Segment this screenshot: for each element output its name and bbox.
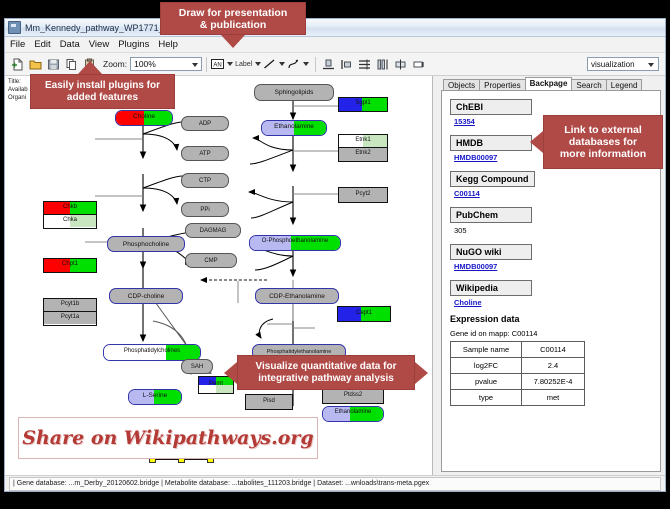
db-title-kegg: Kegg Compound xyxy=(450,171,535,187)
node-cmp[interactable]: CMP xyxy=(185,253,237,268)
visualization-combobox[interactable]: visualization xyxy=(587,57,659,71)
common-width-icon[interactable] xyxy=(374,56,391,73)
menu-item-plugins[interactable]: Plugins xyxy=(118,39,149,50)
callout-plugins-line2: added features xyxy=(67,92,138,104)
callout-draw-arrow-icon xyxy=(221,35,245,48)
table-row: log2FC 2.4 xyxy=(451,358,585,374)
gene-label: Chkb xyxy=(44,204,96,210)
chevron-down-icon xyxy=(303,62,309,66)
gene-label: Pcyt1b xyxy=(44,301,96,307)
gene-group-chk[interactable]: Chkb Chka xyxy=(43,201,97,229)
db-link-nugo[interactable]: HMDB00097 xyxy=(454,262,652,271)
callout-plugins-arrow-icon xyxy=(78,61,102,74)
gene-id-line: Gene id on mapp: C00114 xyxy=(450,329,652,338)
node-label: ADP xyxy=(199,121,211,127)
db-title-pubchem: PubChem xyxy=(450,207,532,223)
status-bar: | Gene database: ...m_Derby_20120602.bri… xyxy=(5,475,665,491)
callout-draw-line1: Draw for presentation xyxy=(179,7,288,19)
callout-plugins: Easily install plugins for added feature… xyxy=(30,74,175,109)
title-bar: Mm_Kennedy_pathway_WP1771_45176.gpml xyxy=(5,19,665,37)
callout-plugins-line1: Easily install plugins for xyxy=(45,80,160,92)
callout-visualize-arrow-icon xyxy=(224,362,237,384)
cell-key: log2FC xyxy=(451,358,522,374)
toolbar-separator xyxy=(206,57,207,72)
table-row: pvalue 7.80252E-4 xyxy=(451,374,585,390)
db-block-pubchem: PubChem 305 xyxy=(450,205,652,235)
cell-value: 2.4 xyxy=(522,358,585,374)
cell-key: type xyxy=(451,390,522,406)
new-file-icon[interactable] xyxy=(9,56,26,73)
gene-label: Pcyt1a xyxy=(44,314,96,320)
node-label: CDP-Ethanolamine xyxy=(269,293,325,300)
side-panel-tabs: Objects Properties Backpage Search Legen… xyxy=(433,76,665,90)
gene-pcyt2[interactable]: Pcyt2 xyxy=(338,187,388,203)
menu-item-data[interactable]: Data xyxy=(60,39,80,50)
gene-group-pcyt1[interactable]: Pcyt1b Pcyt1a xyxy=(43,298,97,326)
cell-value: met xyxy=(522,390,585,406)
node-ethanolamine-top[interactable]: Ethanolamine xyxy=(261,120,327,136)
callout-draw: Draw for presentation & publication xyxy=(160,2,306,35)
datanode-tool[interactable]: AN xyxy=(211,58,233,70)
node-label: PPi xyxy=(200,207,209,213)
interaction-tool[interactable] xyxy=(287,58,309,70)
db-block-nugo: NuGO wiki HMDB00097 xyxy=(450,242,652,271)
callout-link-arrow-icon xyxy=(530,131,543,153)
chevron-down-icon xyxy=(648,63,654,67)
cell-key: pvalue xyxy=(451,374,522,390)
zoom-value: 100% xyxy=(134,59,156,69)
cell-value: 7.80252E-4 xyxy=(522,374,585,390)
gene-label: Sgpl1 xyxy=(339,100,387,106)
node-label: CDP-choline xyxy=(128,293,165,300)
gene-chpt1[interactable]: Chpt1 xyxy=(43,258,97,273)
callout-link-line2: databases for xyxy=(569,136,637,148)
distribute-icon[interactable] xyxy=(392,56,409,73)
tab-properties[interactable]: Properties xyxy=(479,79,525,90)
expression-data-heading: Expression data xyxy=(450,314,652,324)
table-row: type met xyxy=(451,390,585,406)
toolbar-separator xyxy=(315,57,316,72)
node-label: Choline xyxy=(116,113,172,120)
menu-item-view[interactable]: View xyxy=(89,39,109,50)
node-label: Phosphocholine xyxy=(123,241,169,248)
pathvisio-icon xyxy=(8,21,21,34)
node-label: CTP xyxy=(199,178,211,184)
db-title-nugo: NuGO wiki xyxy=(450,244,532,260)
db-title-hmdb: HMDB xyxy=(450,135,532,151)
node-choline-top[interactable]: Choline xyxy=(115,110,173,126)
gene-etnk2[interactable]: Etnk2 xyxy=(338,147,388,162)
chevron-down-icon xyxy=(227,62,233,66)
node-label: Phosphatidylcholines xyxy=(104,348,200,354)
callout-share-text: Share on Wikipathways.org xyxy=(22,427,313,449)
save-icon[interactable] xyxy=(45,56,62,73)
gene-label: Pcyt2 xyxy=(339,191,387,197)
gene-label: Pisd xyxy=(246,398,292,404)
tab-backpage[interactable]: Backpage xyxy=(525,77,573,90)
db-block-wikipedia: Wikipedia Choline xyxy=(450,278,652,307)
gene-pisd[interactable]: Pisd xyxy=(245,394,293,410)
cell-value: C00114 xyxy=(522,342,585,358)
pathway-canvas[interactable]: Title: Availab Organi xyxy=(5,76,433,475)
node-atp[interactable]: ATP xyxy=(181,146,229,161)
open-folder-icon[interactable] xyxy=(27,56,44,73)
callout-link: Link to external databases for more info… xyxy=(543,115,663,169)
common-height-icon[interactable] xyxy=(410,56,427,73)
gene-sgpl1[interactable]: Sgpl1 xyxy=(338,97,388,112)
node-l-serine-left[interactable]: L-Serine xyxy=(128,389,182,405)
node-sah[interactable]: SAH xyxy=(181,359,213,374)
cell-key: Sample name xyxy=(451,342,522,358)
node-ctp[interactable]: CTP xyxy=(181,173,229,188)
callout-visualize-arrow-right-icon xyxy=(415,362,428,384)
visualization-value: visualization xyxy=(591,60,635,69)
node-label: ATP xyxy=(199,151,210,157)
node-sphingolipids[interactable]: Sphingolipids xyxy=(254,84,334,101)
node-label: L-Serine xyxy=(129,392,181,399)
tab-legend[interactable]: Legend xyxy=(606,79,643,90)
node-dagmag[interactable]: DAGMAG xyxy=(185,223,241,238)
node-label: O-Phosphoethanolamine xyxy=(250,238,340,244)
stack-icon[interactable] xyxy=(356,56,373,73)
table-row: Sample name C00114 xyxy=(451,342,585,358)
node-ppi[interactable]: PPi xyxy=(181,202,229,217)
callout-link-line3: more information xyxy=(560,148,646,160)
zoom-label: Zoom: xyxy=(103,59,127,69)
node-label: Sphingolipids xyxy=(275,89,314,96)
label-tool[interactable]: Label xyxy=(235,61,261,68)
callout-link-line1: Link to external xyxy=(564,124,642,136)
toolbar: Zoom: 100% AN Label xyxy=(5,53,665,76)
gene-ptdss2[interactable]: Ptdss2 xyxy=(322,388,384,404)
expression-table: Sample name C00114 log2FC 2.4 pvalue 7.8… xyxy=(450,341,585,406)
align-bottom-icon[interactable] xyxy=(320,56,337,73)
node-cdp-choline[interactable]: CDP-choline xyxy=(109,288,183,304)
node-ethanolamine-bottom[interactable]: Ethanolamine xyxy=(322,406,384,422)
zoom-combobox[interactable]: 100% xyxy=(130,57,202,71)
db-link-kegg[interactable]: C00114 xyxy=(454,189,652,198)
align-left-icon[interactable] xyxy=(338,56,355,73)
callout-visualize: Visualize quantitative data for integrat… xyxy=(237,355,415,390)
node-adp[interactable]: ADP xyxy=(181,116,229,131)
db-title-wikipedia: Wikipedia xyxy=(450,280,532,296)
gene-label: Chpt1 xyxy=(44,261,96,267)
gene-label: Chka xyxy=(44,217,96,223)
node-phosphocholine[interactable]: Phosphocholine xyxy=(107,236,185,252)
node-label: Ethanolamine xyxy=(262,123,326,130)
chevron-down-icon xyxy=(279,62,285,66)
db-title-chebi: ChEBI xyxy=(450,99,532,115)
node-label: CMP xyxy=(204,258,217,264)
gene-label: Etnk1 xyxy=(339,137,387,143)
callout-visualize-line2: integrative pathway analysis xyxy=(258,373,394,385)
chevron-down-icon xyxy=(192,63,198,67)
label-tool-label: Label xyxy=(235,61,252,68)
gene-label: Ptdss2 xyxy=(323,392,383,398)
node-o-phosphoethanolamine[interactable]: O-Phosphoethanolamine xyxy=(249,235,341,251)
line-tool[interactable] xyxy=(263,58,285,70)
tab-search[interactable]: Search xyxy=(571,79,606,90)
status-text: | Gene database: ...m_Derby_20120602.bri… xyxy=(9,477,661,491)
node-label: Ethanolamine xyxy=(323,409,383,415)
gene-label: Etnk2 xyxy=(339,150,387,156)
db-block-kegg: Kegg Compound C00114 xyxy=(450,169,652,198)
gene-cept1[interactable]: Cept1 xyxy=(337,306,391,322)
node-label: DAGMAG xyxy=(200,228,227,234)
db-value-pubchem: 305 xyxy=(454,226,652,235)
chevron-down-icon xyxy=(255,62,261,66)
tab-objects[interactable]: Objects xyxy=(443,79,480,90)
db-link-wikipedia[interactable]: Choline xyxy=(454,298,652,307)
svg-text:AN: AN xyxy=(213,63,221,69)
node-cdp-ethanolamine[interactable]: CDP-Ethanolamine xyxy=(255,288,339,304)
callout-share: Share on Wikipathways.org xyxy=(18,417,318,459)
menu-item-edit[interactable]: Edit xyxy=(34,39,50,50)
menu-item-help[interactable]: Help xyxy=(158,39,178,50)
menu-item-file[interactable]: File xyxy=(10,39,25,50)
menu-bar: File Edit Data View Plugins Help xyxy=(5,37,665,53)
callout-visualize-line1: Visualize quantitative data for xyxy=(256,361,397,373)
callout-draw-line2: & publication xyxy=(200,19,267,31)
node-label: SAH xyxy=(191,364,203,370)
gene-label: Cept1 xyxy=(338,310,390,316)
